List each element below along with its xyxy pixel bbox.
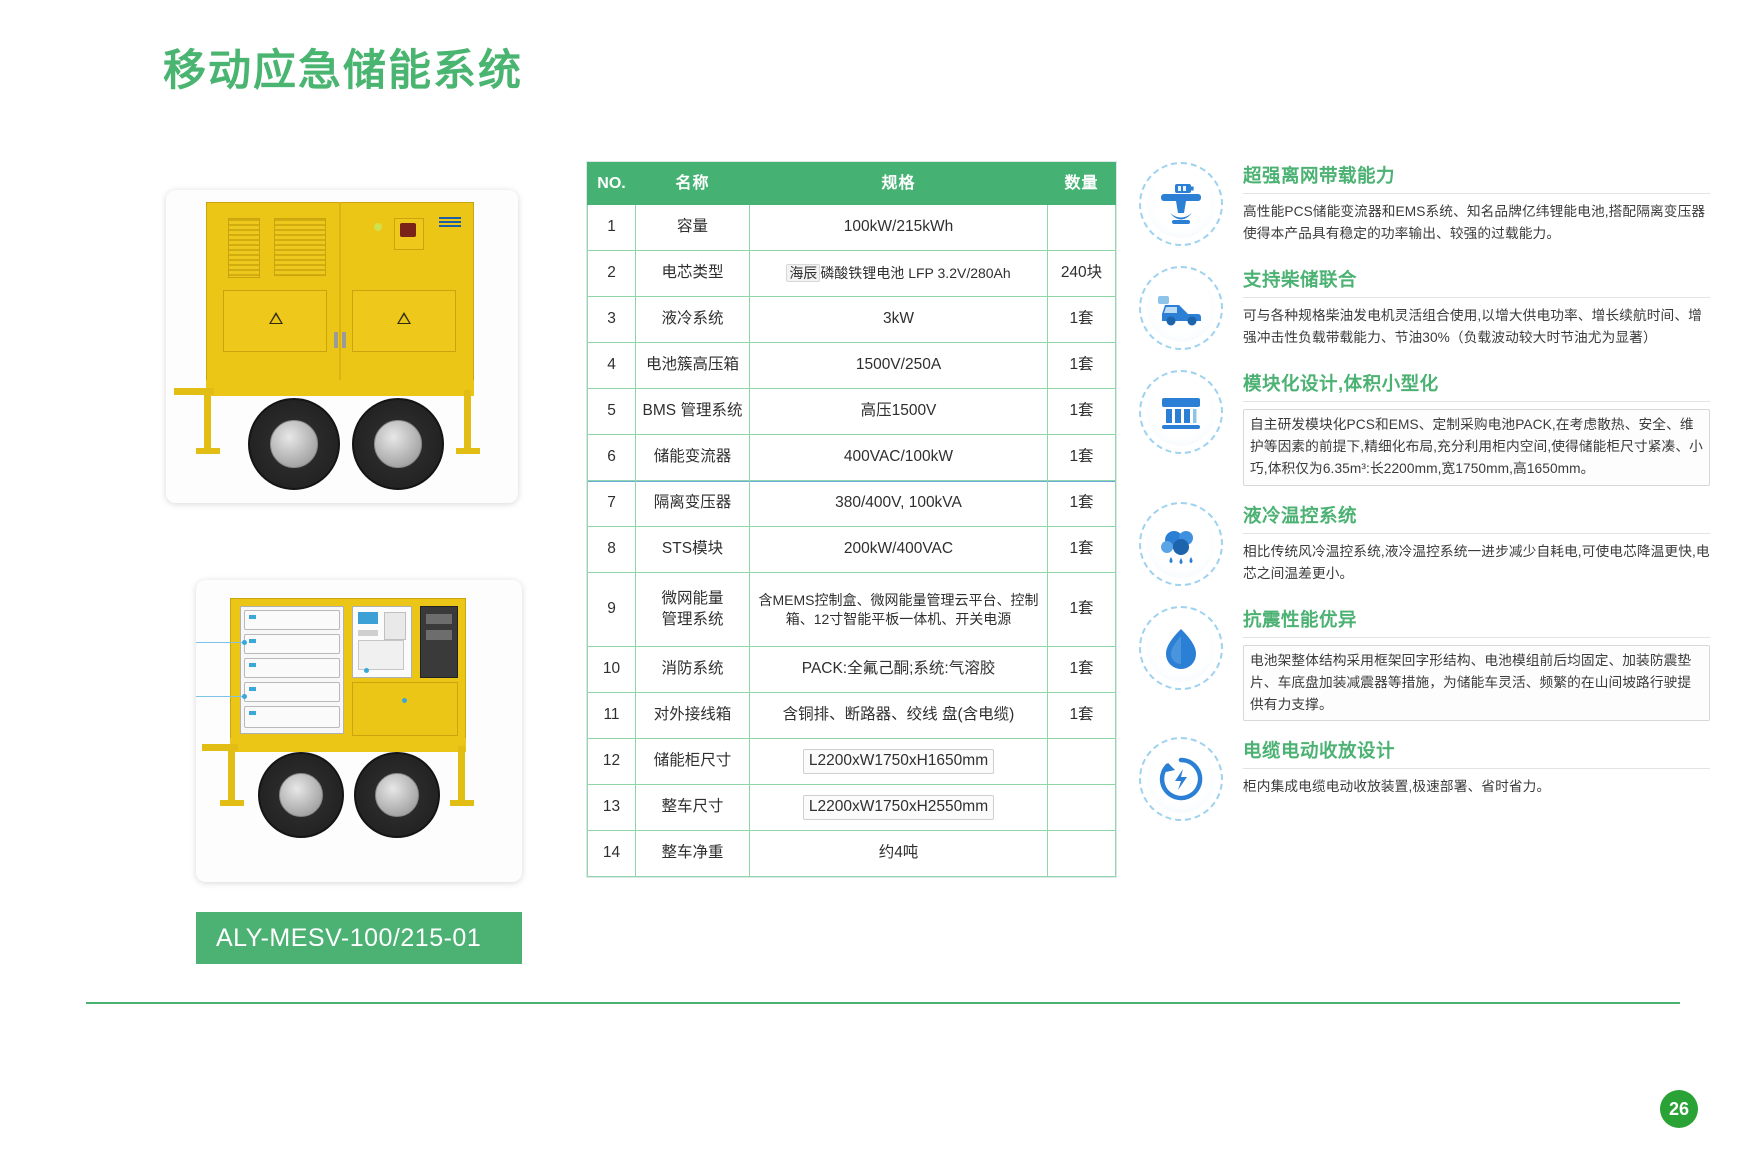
- table-row: 4电池簇高压箱1500V/250A1套: [588, 343, 1116, 389]
- feature-item: 液冷温控系统 相比传统风冷温控系统,液冷温控系统一进步减少自耗电,可使电芯降温更…: [1135, 498, 1710, 590]
- cell-spec-text: 磷酸铁锂电池 LFP 3.2V/280Ah: [820, 265, 1010, 281]
- cell-no: 7: [588, 481, 636, 527]
- table-header-row: NO. 名称 规格 数量: [588, 163, 1116, 205]
- cell-name: BMS 管理系统: [636, 389, 750, 435]
- cell-spec: 200kW/400VAC: [750, 527, 1048, 573]
- feature-item: 模块化设计,体积小型化 自主研发模块化PCS和EMS、定制采购电池PACK,在考…: [1135, 366, 1710, 486]
- feature-description: 柜内集成电缆电动收放装置,极速部署、省时省力。: [1243, 776, 1710, 798]
- cell-spec-text: L2200xW1750xH2550mm: [803, 795, 994, 819]
- warning-triangle-icon: [269, 312, 283, 324]
- cell-qty: 1套: [1048, 527, 1116, 573]
- table-row: 14整车净重约4吨: [588, 831, 1116, 877]
- table-row: 2电芯类型海辰磷酸铁锂电池 LFP 3.2V/280Ah240块: [588, 251, 1116, 297]
- feature-description: 相比传统风冷温控系统,液冷温控系统一进步减少自耗电,可使电芯降温更快,电芯之间温…: [1243, 541, 1710, 585]
- feature-title: 液冷温控系统: [1243, 502, 1710, 528]
- cell-spec-highlight: 海辰: [786, 264, 820, 282]
- cell-name: 储能柜尺寸: [636, 739, 750, 785]
- product-image-closed: [166, 190, 518, 503]
- cell-qty: 1套: [1048, 389, 1116, 435]
- specification-table: NO. 名称 规格 数量 1容量100kW/215kWh2电芯类型海辰磷酸铁锂电…: [587, 162, 1116, 877]
- cell-no: 13: [588, 785, 636, 831]
- cell-qty: [1048, 831, 1116, 877]
- battery-scale-icon: [1135, 158, 1227, 250]
- cell-spec: L2200xW1750xH1650mm: [750, 739, 1048, 785]
- divider: [1243, 768, 1710, 769]
- feature-item: 超强离网带载能力 高性能PCS储能变流器和EMS系统、知名品牌亿纬锂能电池,搭配…: [1135, 158, 1710, 250]
- cell-name: 消防系统: [636, 647, 750, 693]
- divider: [1243, 193, 1710, 194]
- table-row: 11对外接线箱含铜排、断路器、绞线 盘(含电缆)1套: [588, 693, 1116, 739]
- cell-no: 6: [588, 435, 636, 481]
- cell-spec: L2200xW1750xH2550mm: [750, 785, 1048, 831]
- feature-title: 抗震性能优异: [1243, 606, 1710, 632]
- cell-spec: PACK:全氟己酮;系统:气溶胶: [750, 647, 1048, 693]
- col-header-spec: 规格: [750, 163, 1048, 205]
- cell-name: 隔离变压器: [636, 481, 750, 527]
- cell-no: 9: [588, 573, 636, 647]
- divider: [1243, 401, 1710, 402]
- cell-name: 微网能量 管理系统: [636, 573, 750, 647]
- cell-qty: 1套: [1048, 693, 1116, 739]
- cell-spec: 1500V/250A: [750, 343, 1048, 389]
- liquid-cooling-icon: [1135, 498, 1227, 590]
- cell-spec: 100kW/215kWh: [750, 205, 1048, 251]
- cell-no: 8: [588, 527, 636, 573]
- table-row: 5BMS 管理系统高压1500V1套: [588, 389, 1116, 435]
- cell-spec: 高压1500V: [750, 389, 1048, 435]
- cell-no: 3: [588, 297, 636, 343]
- feature-list: 超强离网带载能力 高性能PCS储能变流器和EMS系统、知名品牌亿纬锂能电池,搭配…: [1135, 158, 1710, 837]
- cell-name: 电池簇高压箱: [636, 343, 750, 389]
- cell-spec: 400VAC/100kW: [750, 435, 1048, 481]
- feature-title: 模块化设计,体积小型化: [1243, 370, 1710, 396]
- cell-spec: 海辰磷酸铁锂电池 LFP 3.2V/280Ah: [750, 251, 1048, 297]
- table-row: 7隔离变压器380/400V, 100kVA1套: [588, 481, 1116, 527]
- cell-qty: 1套: [1048, 573, 1116, 647]
- table-row: 1容量100kW/215kWh: [588, 205, 1116, 251]
- cell-qty: 1套: [1048, 343, 1116, 389]
- cell-qty: 1套: [1048, 435, 1116, 481]
- cable-reel-icon: [1135, 733, 1227, 825]
- cell-no: 12: [588, 739, 636, 785]
- footer-divider: [86, 1002, 1680, 1004]
- cell-name: STS模块: [636, 527, 750, 573]
- feature-title: 电缆电动收放设计: [1243, 737, 1710, 763]
- cell-qty: [1048, 739, 1116, 785]
- cell-spec: 含铜排、断路器、绞线 盘(含电缆): [750, 693, 1048, 739]
- cell-name: 电芯类型: [636, 251, 750, 297]
- feature-description: 自主研发模块化PCS和EMS、定制采购电池PACK,在考虑散热、安全、维护等因素…: [1243, 409, 1710, 486]
- cell-name: 整车尺寸: [636, 785, 750, 831]
- cell-spec: 3kW: [750, 297, 1048, 343]
- page-number-badge: 26: [1660, 1090, 1698, 1128]
- cell-qty: 1套: [1048, 297, 1116, 343]
- col-header-name: 名称: [636, 163, 750, 205]
- model-number-label: ALY-MESV-100/215-01: [196, 912, 522, 964]
- product-image-open: [196, 580, 522, 882]
- cell-name: 容量: [636, 205, 750, 251]
- cell-qty: 1套: [1048, 647, 1116, 693]
- table-row: 9微网能量 管理系统含MEMS控制盒、微网能量管理云平台、控制箱、12寸智能平板…: [588, 573, 1116, 647]
- feature-title: 超强离网带载能力: [1243, 162, 1710, 188]
- cell-no: 2: [588, 251, 636, 297]
- cell-name: 对外接线箱: [636, 693, 750, 739]
- table-row: 10消防系统PACK:全氟己酮;系统:气溶胶1套: [588, 647, 1116, 693]
- cell-qty: 240块: [1048, 251, 1116, 297]
- cell-name: 液冷系统: [636, 297, 750, 343]
- generator-car-icon: [1135, 262, 1227, 354]
- cell-no: 10: [588, 647, 636, 693]
- col-header-qty: 数量: [1048, 163, 1116, 205]
- page-title: 移动应急储能系统: [163, 48, 523, 95]
- cell-qty: 1套: [1048, 481, 1116, 527]
- cell-spec: 380/400V, 100kVA: [750, 481, 1048, 527]
- feature-item: 抗震性能优异 电池架整体结构采用框架回字形结构、电池模组前后均固定、加装防震垫片…: [1135, 602, 1710, 722]
- feature-description: 高性能PCS储能变流器和EMS系统、知名品牌亿纬锂能电池,搭配隔离变压器使得本产…: [1243, 201, 1710, 245]
- cell-no: 5: [588, 389, 636, 435]
- table-row: 3液冷系统3kW1套: [588, 297, 1116, 343]
- cell-no: 1: [588, 205, 636, 251]
- col-header-no: NO.: [588, 163, 636, 205]
- cell-no: 14: [588, 831, 636, 877]
- cell-no: 11: [588, 693, 636, 739]
- table-row: 12储能柜尺寸L2200xW1750xH1650mm: [588, 739, 1116, 785]
- modular-rack-icon: [1135, 366, 1227, 458]
- cell-spec: 含MEMS控制盒、微网能量管理云平台、控制箱、12寸智能平板一体机、开关电源: [750, 573, 1048, 647]
- feature-item: 电缆电动收放设计 柜内集成电缆电动收放装置,极速部署、省时省力。: [1135, 733, 1710, 825]
- divider: [1243, 533, 1710, 534]
- warning-triangle-icon: [397, 312, 411, 324]
- cell-name: 储能变流器: [636, 435, 750, 481]
- divider: [1243, 637, 1710, 638]
- table-row: 6储能变流器400VAC/100kW1套: [588, 435, 1116, 481]
- feature-item: 支持柴储联合 可与各种规格柴油发电机灵活组合使用,以增大供电功率、增长续航时间、…: [1135, 262, 1710, 354]
- cell-qty: [1048, 785, 1116, 831]
- cell-spec: 约4吨: [750, 831, 1048, 877]
- feature-description: 电池架整体结构采用框架回字形结构、电池模组前后均固定、加装防震垫片、车底盘加装减…: [1243, 645, 1710, 722]
- cell-qty: [1048, 205, 1116, 251]
- feature-description: 可与各种规格柴油发电机灵活组合使用,以增大供电功率、增长续航时间、增强冲击性负载…: [1243, 305, 1710, 349]
- cell-no: 4: [588, 343, 636, 389]
- feature-title: 支持柴储联合: [1243, 266, 1710, 292]
- cell-name: 整车净重: [636, 831, 750, 877]
- shock-resist-icon: [1135, 602, 1227, 694]
- cell-spec-text: L2200xW1750xH1650mm: [803, 749, 994, 773]
- slide-page: 移动应急储能系统: [0, 0, 1764, 1172]
- table-row: 13整车尺寸L2200xW1750xH2550mm: [588, 785, 1116, 831]
- table-row: 8STS模块200kW/400VAC1套: [588, 527, 1116, 573]
- divider: [1243, 297, 1710, 298]
